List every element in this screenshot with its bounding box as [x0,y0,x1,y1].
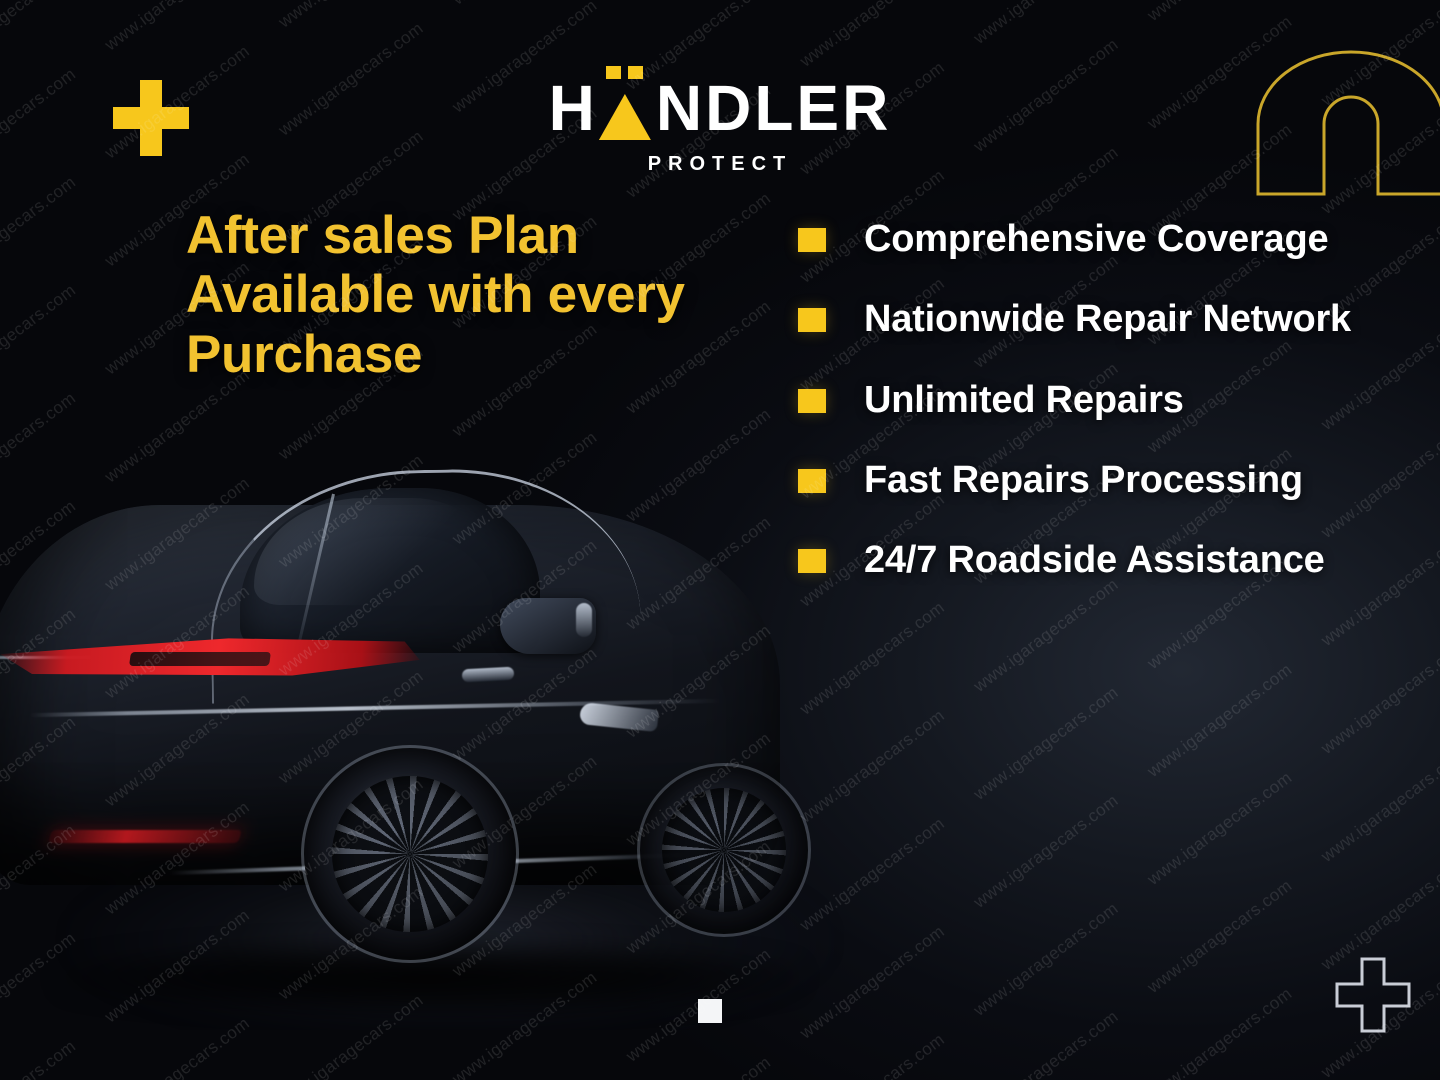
car-front-wheel [640,766,808,934]
brand-logo: H NDLER PROTECT [0,76,1440,176]
bullet-square-icon [798,549,826,573]
brand-logo-suffix: NDLER [656,76,891,140]
car-rear-reflector [48,830,242,843]
list-item: Fast Repairs Processing [798,457,1378,503]
car-image [0,410,880,1030]
car-door-handle [462,667,515,683]
square-indicator[interactable] [698,999,722,1023]
car-rear-wheel [304,748,516,960]
list-item: Nationwide Repair Network [798,296,1378,342]
plus-outline-icon [1335,957,1411,1033]
benefits-list: Comprehensive Coverage Nationwide Repair… [798,216,1378,584]
page-title: After sales Plan Available with every Pu… [186,206,726,384]
umlaut-dot-right [628,66,643,79]
bullet-square-icon [798,389,826,413]
brand-logo-umlaut-a-icon [597,82,653,140]
brand-logo-wordmark: H NDLER [549,76,892,140]
bullet-square-icon [798,308,826,332]
benefit-label: 24/7 Roadside Assistance [864,537,1325,583]
promo-poster: H NDLER PROTECT After sales Plan Availab… [0,0,1440,1080]
brand-logo-prefix: H [549,76,596,140]
list-item: 24/7 Roadside Assistance [798,537,1378,583]
list-item: Comprehensive Coverage [798,216,1378,262]
wheel-hub [389,833,431,875]
list-item: Unlimited Repairs [798,377,1378,423]
brand-logo-subtitle: PROTECT [648,153,793,176]
benefit-label: Unlimited Repairs [864,377,1184,423]
benefit-label: Comprehensive Coverage [864,216,1328,262]
bullet-square-icon [798,228,826,252]
car-taillight-inner [129,652,271,666]
watermark-text: www.igaragecars.com www.igaragecars.com … [0,0,1440,16]
triangle-a-glyph [599,94,651,140]
bullet-square-icon [798,469,826,493]
wheel-hub [707,833,741,867]
car-side-mirror [500,598,596,654]
umlaut-dot-left [606,66,621,79]
benefit-label: Fast Repairs Processing [864,457,1303,503]
benefit-label: Nationwide Repair Network [864,296,1351,342]
